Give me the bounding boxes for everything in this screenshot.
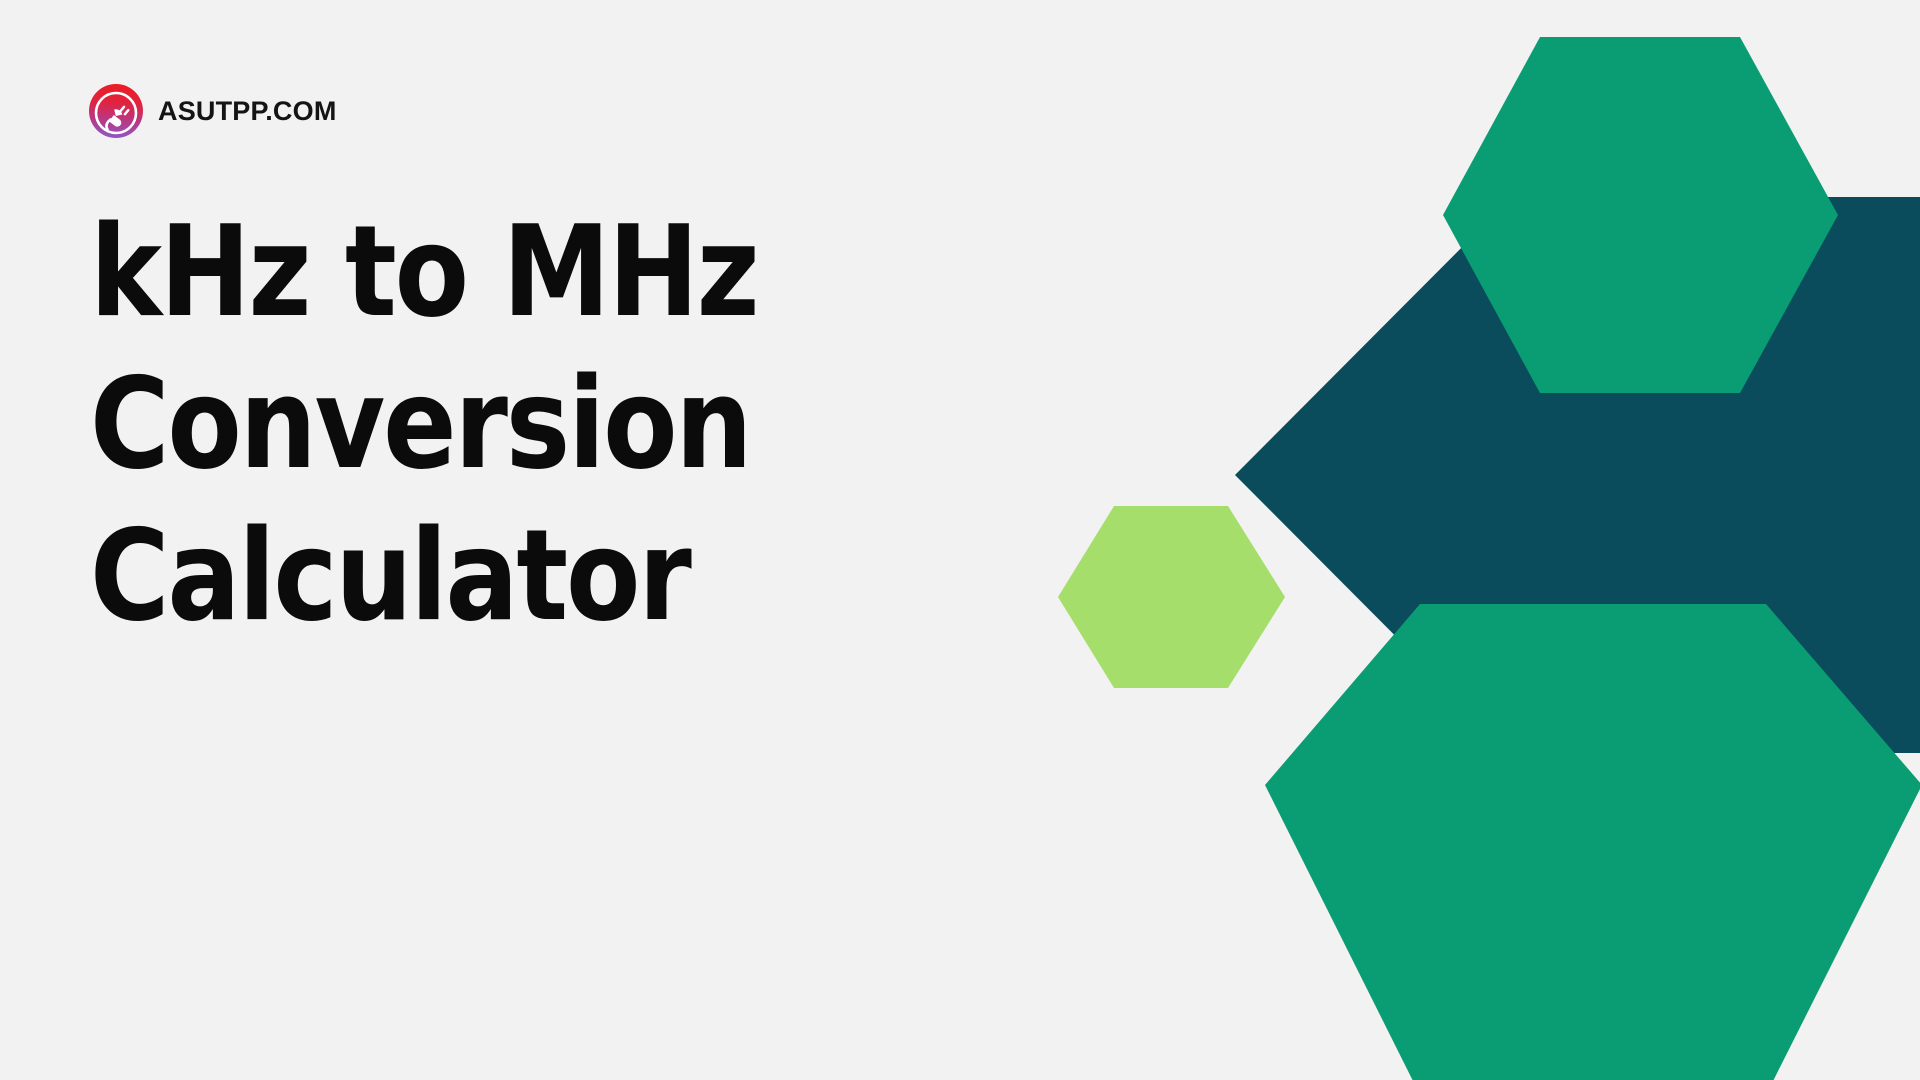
page-title-line-2: Conversion: [90, 348, 778, 500]
page-title: kHz to MHz Conversion Calculator: [90, 196, 890, 652]
plug-in-circle-icon: [88, 83, 144, 139]
hex-mid-dark-teal: [1235, 197, 1920, 753]
brand-name-text: ASUTPP.COM: [158, 98, 337, 125]
hex-small-light-green: [1058, 506, 1285, 688]
banner-canvas: ASUTPP.COM kHz to MHz Conversion Calcula…: [0, 0, 1920, 1080]
brand-logo[interactable]: ASUTPP.COM: [88, 82, 337, 140]
hex-mid-dark-teal-shape: [1513, 379, 1920, 731]
page-title-line-1: kHz to MHz: [90, 196, 778, 348]
hex-top-green: [1443, 37, 1838, 393]
page-title-line-3: Calculator: [90, 500, 778, 652]
hex-bottom-green: [1265, 604, 1920, 1080]
